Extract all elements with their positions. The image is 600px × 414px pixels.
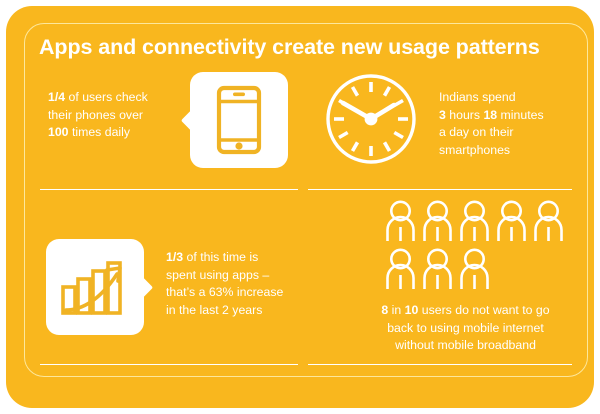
- person-icon: [384, 248, 417, 290]
- stat-time-spent-minutes: 18: [483, 108, 497, 122]
- stat-phone-checks-line1: of users check: [65, 90, 148, 104]
- stat-app-usage-line3: that’s a 63% increase: [166, 285, 283, 299]
- person-icon: [421, 248, 454, 290]
- divider-bottom-right: [308, 364, 572, 365]
- stat-broadband-line2: back to using mobile internet: [387, 321, 544, 335]
- page-title: Apps and connectivity create new usage p…: [39, 35, 569, 60]
- stat-time-spent-text: Indians spend 3 hours 18 minutes a day o…: [439, 89, 589, 159]
- stat-broadband-in: in: [388, 303, 404, 317]
- person-icon: [458, 248, 491, 290]
- bar-chart-growth-icon: [46, 239, 144, 335]
- chart-callout-card: [46, 239, 144, 335]
- stat-time-spent-hours-unit: hours: [446, 108, 484, 122]
- people-row-bottom: [384, 248, 570, 290]
- stat-time-spent-line1: Indians spend: [439, 90, 516, 104]
- stat-broadband-line3: without mobile broadband: [395, 338, 536, 352]
- infographic-page: Apps and connectivity create new usage p…: [0, 0, 600, 414]
- stat-time-spent-line3: a day on their: [439, 125, 514, 139]
- clock-icon: [322, 70, 420, 168]
- phone-callout-card: [190, 72, 288, 168]
- person-icon: [532, 200, 565, 242]
- divider-top-right: [308, 189, 572, 190]
- stat-time-spent-line4: smartphones: [439, 143, 510, 157]
- stat-app-usage-line2: spent using apps –: [166, 268, 269, 282]
- stat-app-usage-fraction: 1/3: [166, 250, 183, 264]
- stat-phone-checks-text: 1/4 of users check their phones over 100…: [48, 89, 193, 142]
- stat-phone-checks-count: 100: [48, 125, 69, 139]
- person-icon: [421, 200, 454, 242]
- stat-app-usage-line4: in the last 2 years: [166, 303, 262, 317]
- stat-app-usage-text: 1/3 of this time is spent using apps – t…: [166, 249, 326, 319]
- orange-panel: Apps and connectivity create new usage p…: [6, 6, 594, 408]
- stat-broadband-line1: users do not want to go: [418, 303, 549, 317]
- divider-bottom-left: [40, 364, 298, 365]
- people-row-top: [384, 200, 570, 242]
- stat-phone-checks-line2: their phones over: [48, 108, 143, 122]
- stat-broadband-denominator: 10: [405, 303, 419, 317]
- stat-broadband-text: 8 in 10 users do not want to go back to …: [358, 302, 573, 355]
- smartphone-icon: [190, 72, 288, 168]
- person-icon: [384, 200, 417, 242]
- stat-time-spent-minutes-unit: minutes: [497, 108, 543, 122]
- stat-time-spent-hours: 3: [439, 108, 446, 122]
- person-icon: [458, 200, 491, 242]
- stat-app-usage-line1: of this time is: [183, 250, 258, 264]
- stat-phone-checks-line3: times daily: [69, 125, 131, 139]
- person-icon: [495, 200, 528, 242]
- divider-top-left: [40, 189, 298, 190]
- people-group-icon: [384, 200, 570, 292]
- stat-phone-checks-fraction: 1/4: [48, 90, 65, 104]
